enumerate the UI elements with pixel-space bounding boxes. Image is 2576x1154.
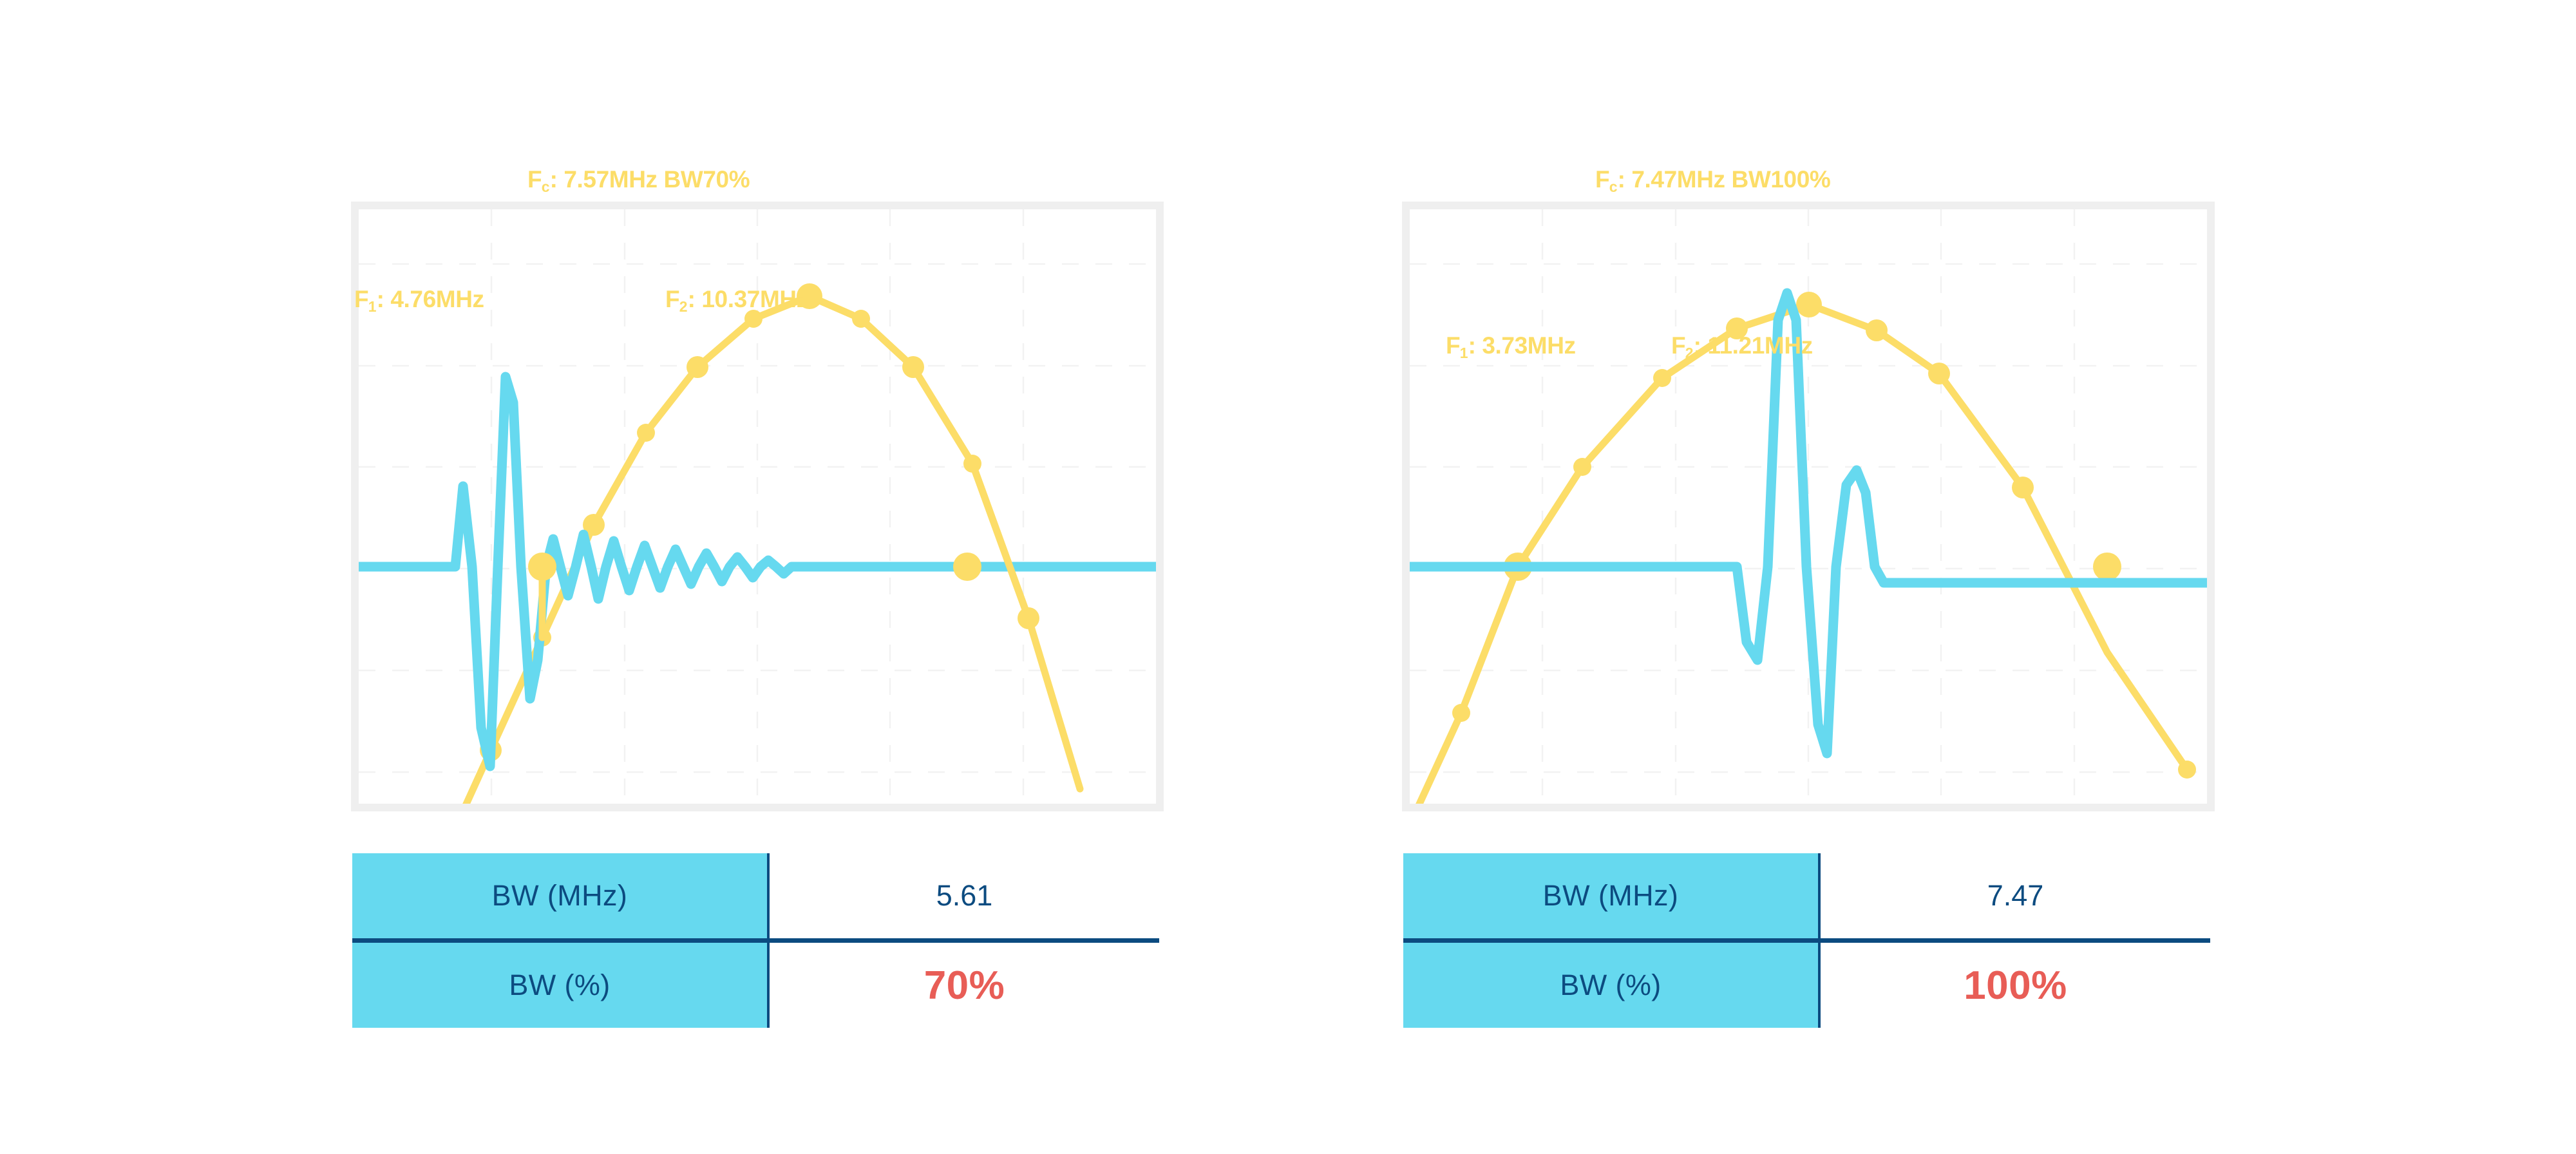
f1-symbol: F: [354, 286, 368, 312]
pulse-waveform-left: [359, 377, 1156, 766]
bandwidth-table-right: BW (MHz) 7.47 BW (%) 100%: [1403, 853, 2210, 1028]
f2-subscript: 2: [1685, 345, 1693, 361]
f1-subscript: 1: [368, 298, 376, 315]
fc-symbol: F: [527, 166, 542, 193]
f1-symbol: F: [1446, 332, 1460, 359]
f2-marker: [2093, 553, 2121, 581]
fc-subscript: c: [542, 178, 549, 195]
bw-pct-label: BW (%): [352, 941, 768, 1028]
f2-symbol: F: [665, 286, 679, 312]
right-chart-svg: [1410, 209, 2207, 804]
table-row: BW (MHz) 5.61: [352, 853, 1159, 941]
bandwidth-table-left: BW (MHz) 5.61 BW (%) 70%: [352, 853, 1159, 1028]
bw-pct-value: 70%: [768, 941, 1159, 1028]
annotation-fc-left: Fc: 7.57MHz BW70%: [527, 167, 750, 191]
bw-mhz-label: BW (MHz): [1403, 853, 1819, 941]
f2-text: : 11.21MHz: [1694, 332, 1813, 359]
bw-mhz-label: BW (MHz): [352, 853, 768, 941]
fc-symbol: F: [1595, 166, 1609, 193]
chart-frame-right: [1402, 202, 2215, 811]
table-row: BW (MHz) 7.47: [1403, 853, 2210, 941]
plot-area-right: [1410, 209, 2207, 804]
fc-text: : 7.47MHz BW100%: [1618, 166, 1831, 193]
f1-text: : 4.76MHz: [377, 286, 484, 312]
spectrum-markers-right: [1452, 292, 2196, 779]
annotation-f1-left: F1: 4.76MHz: [354, 287, 484, 311]
panel-right: Fc: 7.47MHz BW100% F1: 3.73MHz F2: 11.21…: [1402, 0, 2265, 1154]
f2-symbol: F: [1671, 332, 1685, 359]
f2-text: : 10.37MHz: [688, 286, 808, 312]
fc-subscript: c: [1609, 178, 1617, 195]
annotation-fc-right: Fc: 7.47MHz BW100%: [1595, 167, 1830, 191]
page-root: Fc: 7.57MHz BW70% F1: 4.76MHz F2: 10.37M…: [0, 0, 2576, 1154]
fc-text: : 7.57MHz BW70%: [550, 166, 750, 193]
f2-subscript: 2: [679, 298, 687, 315]
bw-pct-value: 100%: [1819, 941, 2210, 1028]
spectrum-f2-segment-left: [972, 464, 1028, 618]
annotation-f1-right: F1: 3.73MHz: [1446, 334, 1576, 357]
annotation-f2-right: F2: 11.21MHz: [1671, 334, 1813, 357]
f1-subscript: 1: [1460, 345, 1468, 361]
f2-marker: [953, 553, 981, 581]
spectrum-markers-left: [480, 283, 1039, 761]
annotation-f2-left: F2: 10.37MHz: [665, 287, 808, 311]
bw-pct-label: BW (%): [1403, 941, 1819, 1028]
panel-left: Fc: 7.57MHz BW70% F1: 4.76MHz F2: 10.37M…: [351, 0, 1214, 1154]
f1-text: : 3.73MHz: [1468, 332, 1576, 359]
bw-mhz-value: 5.61: [768, 853, 1159, 941]
bw-mhz-value: 7.47: [1819, 853, 2210, 941]
spectrum-curve-left: [442, 296, 1080, 804]
table-row: BW (%) 100%: [1403, 941, 2210, 1028]
table-row: BW (%) 70%: [352, 941, 1159, 1028]
